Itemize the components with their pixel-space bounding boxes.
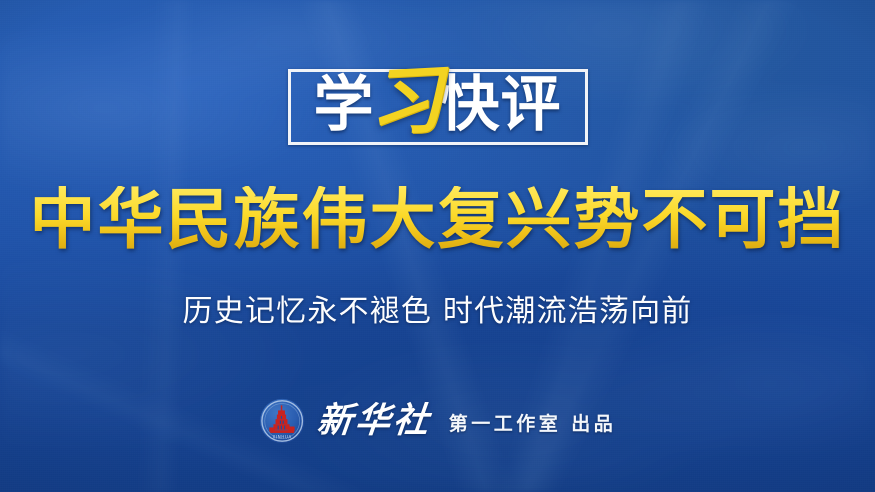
logo-ring-text: XINHUA xyxy=(272,434,291,439)
subtitle: 历史记忆永不褪色 时代潮流浩荡向前 xyxy=(0,297,875,327)
column-title-char-3: 快 xyxy=(440,75,501,135)
poster-content: 学 习 快 评 中华民族伟大复兴势不可挡 历史记忆永不褪色 时代潮流浩荡向前 xyxy=(0,0,875,492)
xinhua-pagoda-logo-icon: XINHUA xyxy=(259,398,305,444)
news-poster: 学 习 快 评 中华民族伟大复兴势不可挡 历史记忆永不褪色 时代潮流浩荡向前 xyxy=(0,0,875,492)
column-title-char-2: 习 xyxy=(367,63,446,141)
column-title-frame: 学 习 快 评 xyxy=(288,69,588,145)
column-title: 学 习 快 评 xyxy=(314,68,562,142)
credits-row: XINHUA 新华社 第一工作室 出品 xyxy=(259,398,617,444)
column-title-char-4: 评 xyxy=(501,75,562,135)
headline: 中华民族伟大复兴势不可挡 xyxy=(0,186,875,252)
studio-credit: 第一工作室 出品 xyxy=(449,415,617,434)
column-title-char-1: 学 xyxy=(314,75,375,135)
agency-name: 新华社 xyxy=(315,403,433,438)
